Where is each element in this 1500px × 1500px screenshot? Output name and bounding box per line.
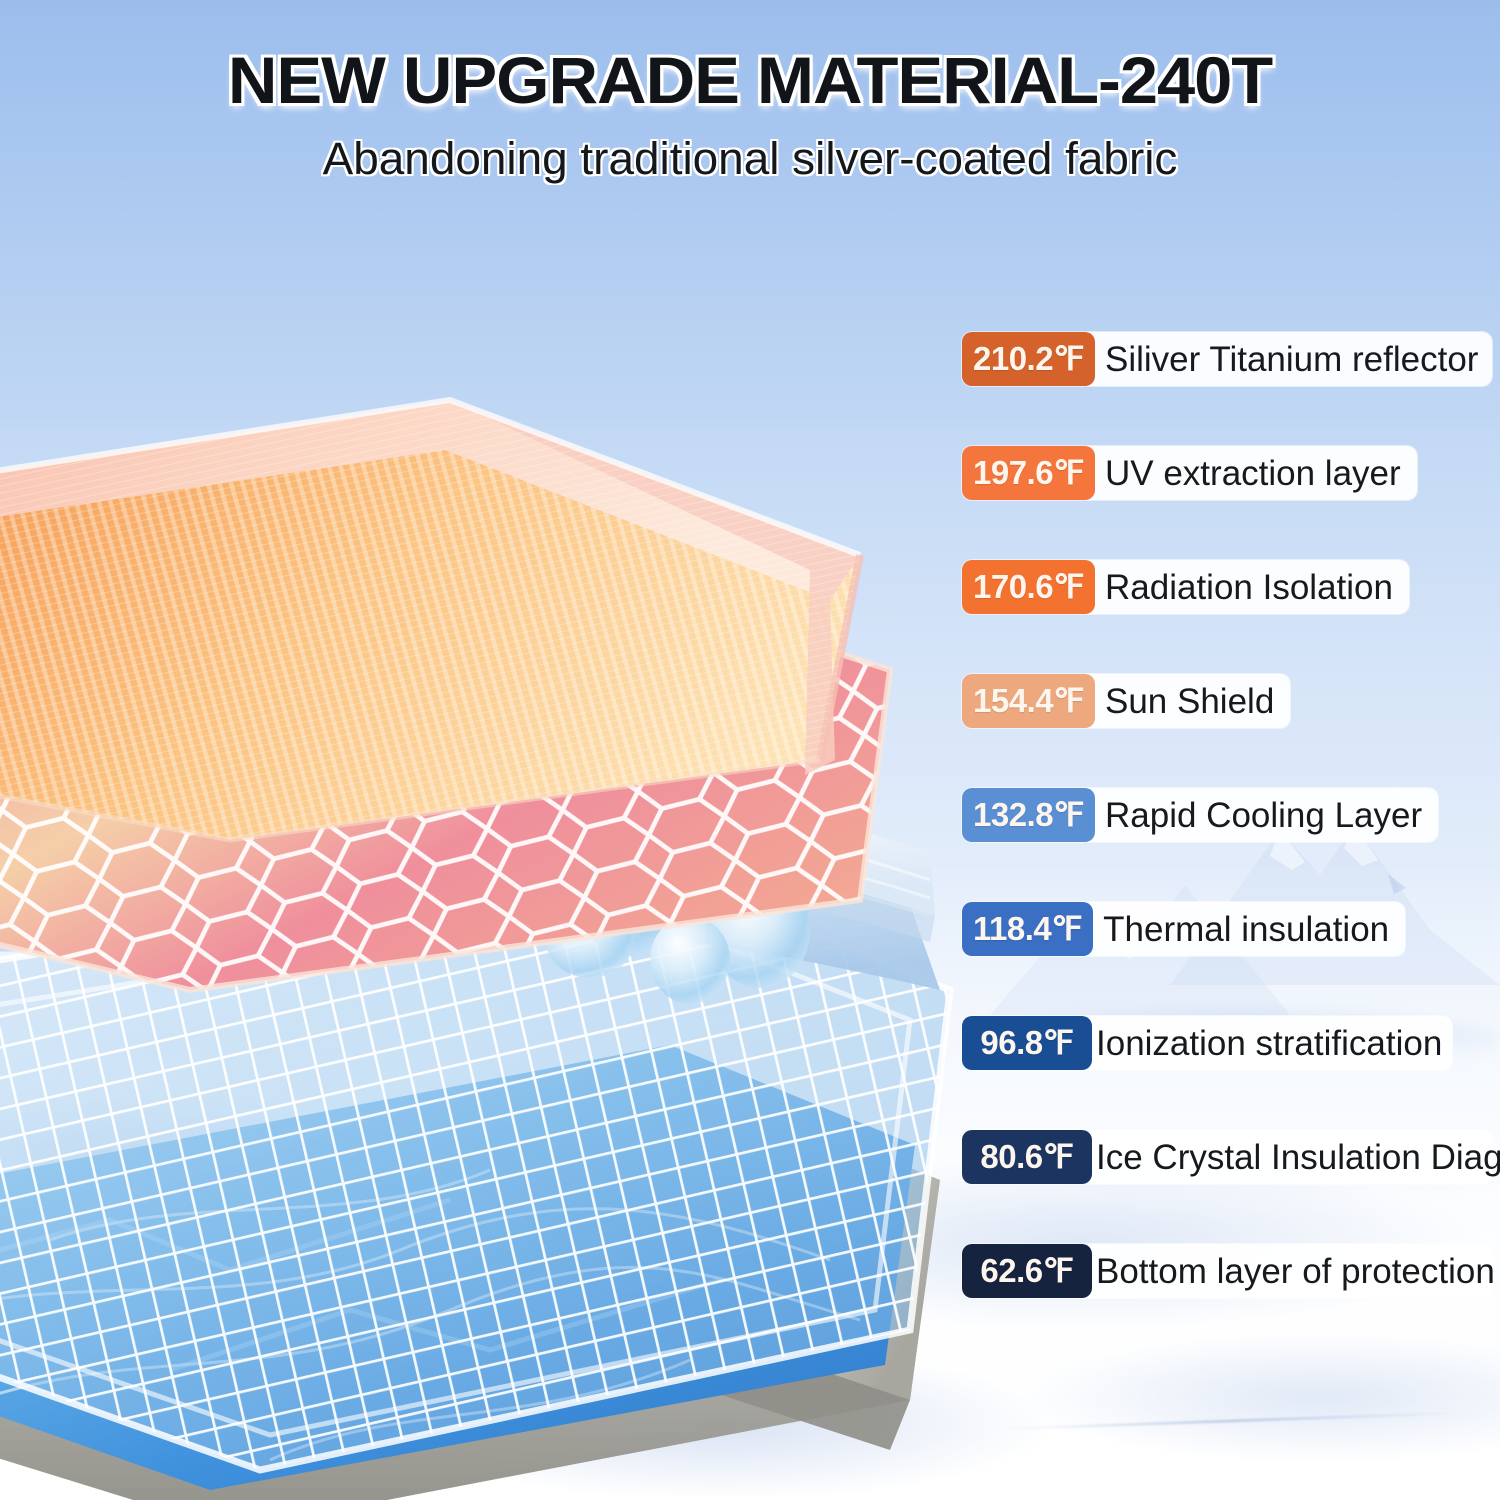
- spec-row: 62.6℉Bottom layer of protection: [962, 1244, 1492, 1298]
- temperature-badge: 154.4℉: [962, 674, 1095, 728]
- temperature-badge: 197.6℉: [962, 446, 1095, 500]
- layer-label: Thermal insulation: [1093, 902, 1405, 956]
- ice-crack: [1000, 1412, 1460, 1430]
- layer-label: UV extraction layer: [1095, 446, 1417, 500]
- temperature-badge: 80.6℉: [962, 1130, 1092, 1184]
- spec-row: 170.6℉Radiation Isolation: [962, 560, 1409, 614]
- fabric-layers-illustration: [0, 200, 990, 1490]
- page-subtitle: Abandoning traditional silver-coated fab…: [0, 134, 1500, 184]
- layer-label: Bottom layer of protection: [1092, 1244, 1500, 1298]
- layer-label: Ionization stratification: [1092, 1016, 1452, 1070]
- spec-row: 154.4℉Sun Shield: [962, 674, 1290, 728]
- spec-row: 96.8℉Ionization stratification: [962, 1016, 1452, 1070]
- layer-spec-list: 210.2℉Siliver Titanium reflector197.6℉UV…: [962, 332, 1492, 1298]
- temperature-badge: 132.8℉: [962, 788, 1095, 842]
- spec-row: 80.6℉Ice Crystal Insulation Diagram: [962, 1130, 1492, 1184]
- temperature-badge: 62.6℉: [962, 1244, 1092, 1298]
- header-block: NEW UPGRADE MATERIAL-240T Abandoning tra…: [0, 44, 1500, 183]
- product-infographic: NEW UPGRADE MATERIAL-240T Abandoning tra…: [0, 0, 1500, 1500]
- temperature-badge: 170.6℉: [962, 560, 1095, 614]
- spec-row: 197.6℉UV extraction layer: [962, 446, 1417, 500]
- layer-label: Ice Crystal Insulation Diagram: [1092, 1130, 1500, 1184]
- spec-row: 210.2℉Siliver Titanium reflector: [962, 332, 1492, 386]
- spec-row: 132.8℉Rapid Cooling Layer: [962, 788, 1438, 842]
- layer-label: Rapid Cooling Layer: [1095, 788, 1438, 842]
- temperature-badge: 210.2℉: [962, 332, 1095, 386]
- layer-label: Sun Shield: [1095, 674, 1290, 728]
- temperature-badge: 96.8℉: [962, 1016, 1092, 1070]
- layer-label: Radiation Isolation: [1095, 560, 1409, 614]
- spec-row: 118.4℉Thermal insulation: [962, 902, 1405, 956]
- page-title: NEW UPGRADE MATERIAL-240T: [0, 44, 1500, 118]
- layer-label: Siliver Titanium reflector: [1095, 332, 1494, 386]
- temperature-badge: 118.4℉: [962, 902, 1093, 956]
